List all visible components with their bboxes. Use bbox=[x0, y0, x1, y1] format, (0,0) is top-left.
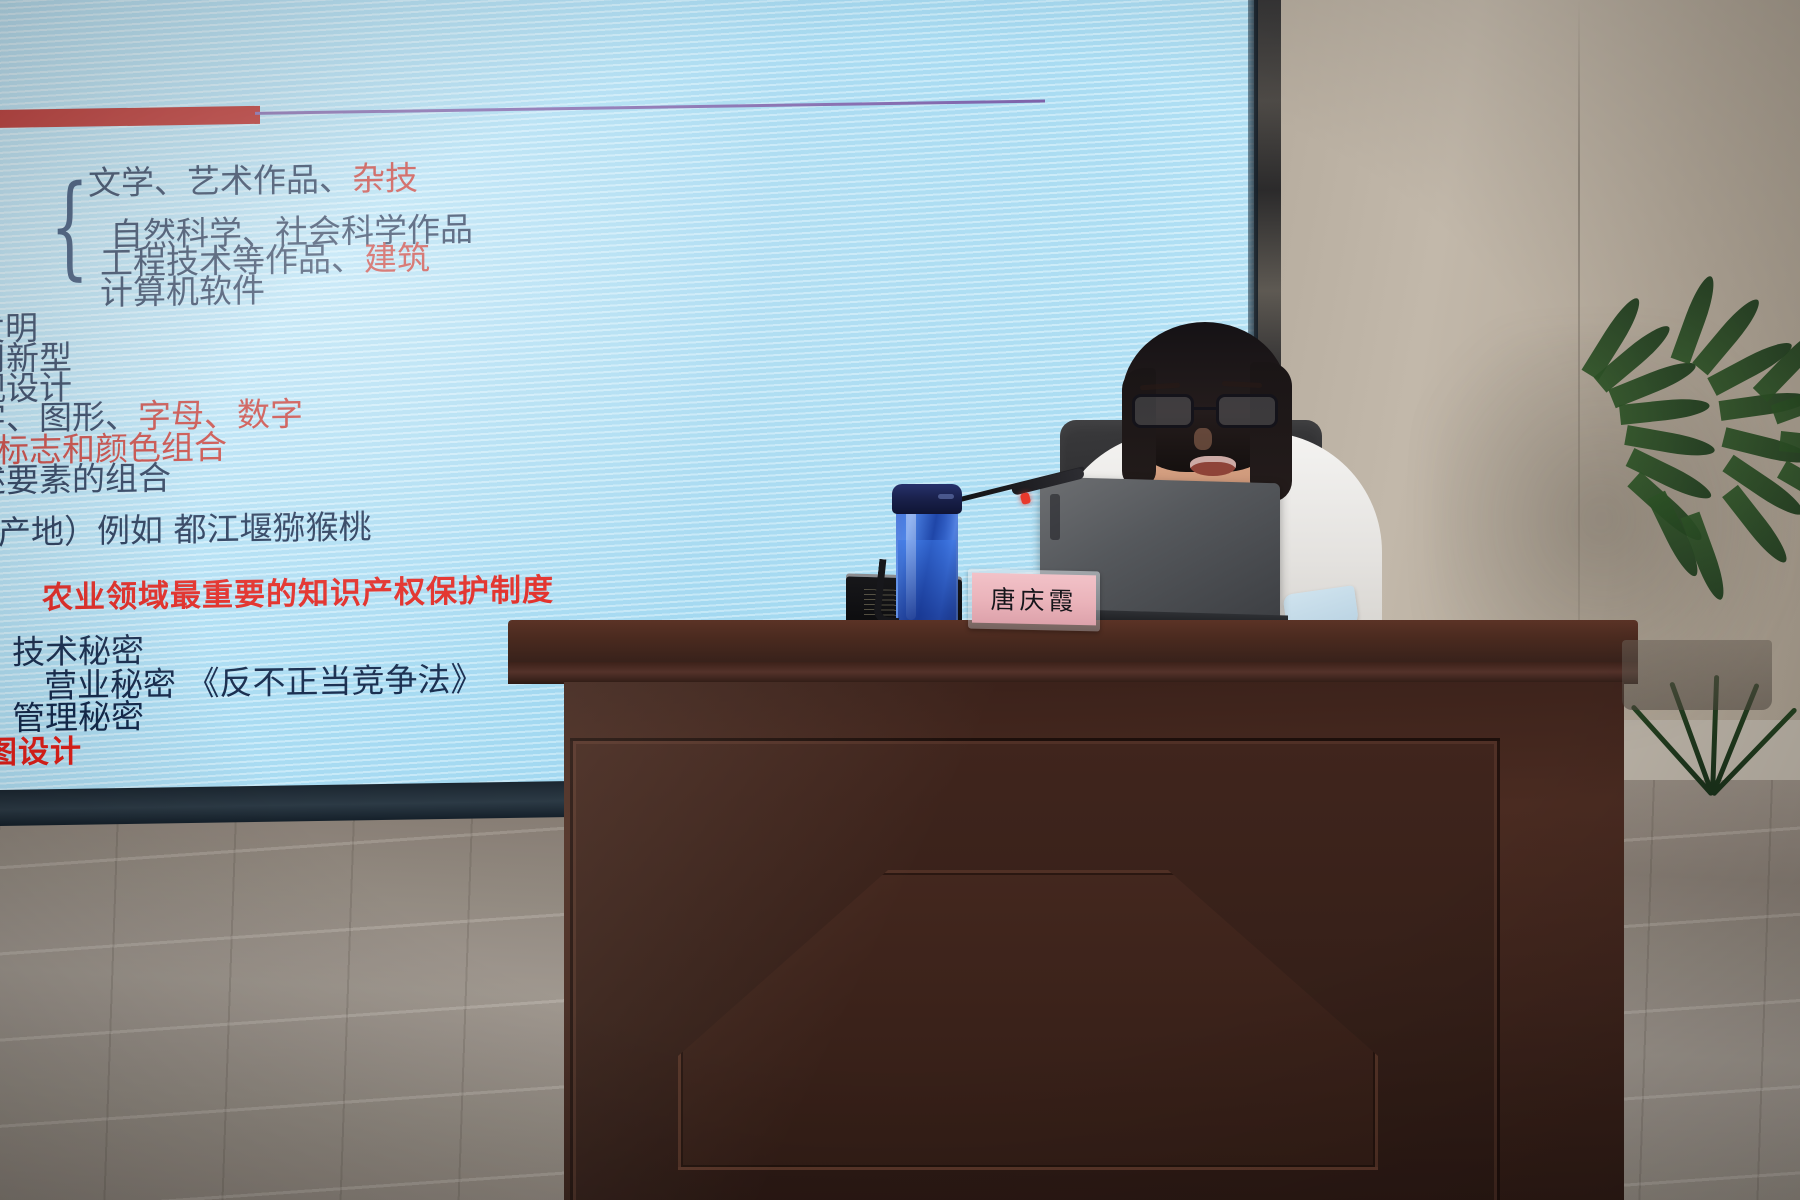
potted-palm-plant bbox=[1560, 255, 1800, 675]
glasses-bridge bbox=[1194, 407, 1216, 410]
slide-line: 文学、艺术作品、杂技 bbox=[88, 161, 418, 199]
slide-line: 计算机软件 bbox=[100, 274, 265, 310]
water-bottle-cap-tab bbox=[938, 494, 954, 499]
slide-line: 技术秘密 bbox=[12, 634, 144, 669]
slide-line: 管理秘密 bbox=[12, 700, 144, 735]
podium-lip-moulding bbox=[508, 662, 1638, 684]
name-plate: 唐庆霞 bbox=[972, 573, 1096, 626]
water-bottle-highlight bbox=[906, 500, 916, 620]
name-plate-text: 唐庆霞 bbox=[990, 580, 1077, 618]
laptop-vent bbox=[1050, 494, 1060, 540]
brace-copyright: { bbox=[50, 171, 89, 284]
presenter-mouth bbox=[1190, 456, 1236, 476]
lens-left bbox=[1132, 394, 1194, 428]
slide-line: 上述要素的组合 bbox=[0, 461, 171, 498]
lecture-room-photo: 型 权） { 文学、艺术作品、杂技 自然科学、社会科学作品 工程技术等作品、建筑… bbox=[0, 0, 1800, 1200]
eyeglasses-icon bbox=[1132, 394, 1280, 428]
wooden-podium bbox=[508, 620, 1638, 1200]
slide-line: 图设计 bbox=[0, 737, 82, 770]
slide-callout: 农业领域最重要的知识产权保护制度 bbox=[42, 575, 554, 614]
plant-pot bbox=[1622, 640, 1772, 710]
slide-rule-red bbox=[0, 106, 260, 132]
water-bottle-cap bbox=[892, 484, 962, 514]
slide-line: （原产地）例如 都江堰猕猴桃 bbox=[0, 510, 372, 550]
presenter-nose bbox=[1194, 428, 1212, 450]
slide-rule-purple bbox=[255, 100, 1045, 115]
lens-right bbox=[1216, 394, 1278, 428]
